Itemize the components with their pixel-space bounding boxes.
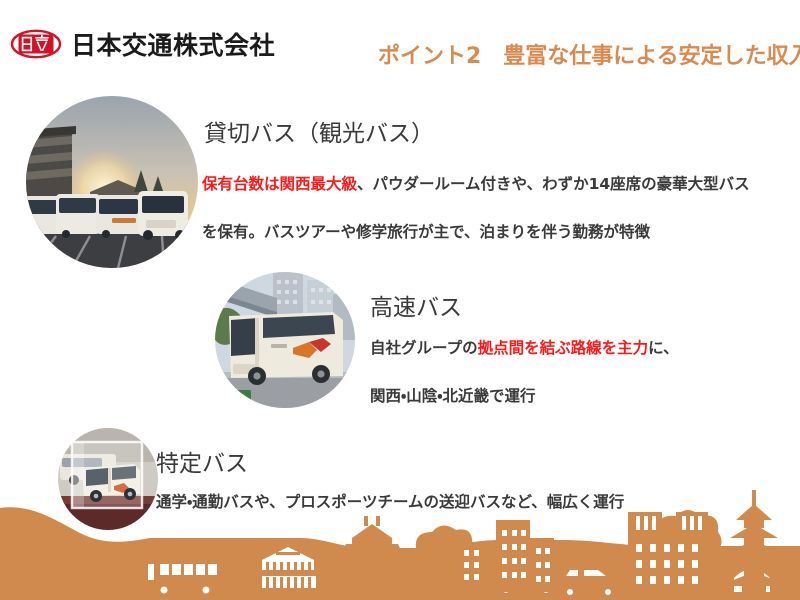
text-run: 保有台数は関西最大級 xyxy=(202,175,357,193)
text-run: 拠点間を結ぶ路線を主力 xyxy=(478,339,649,357)
section-line-kosoku-1: 自社グループの拠点間を結ぶ路線を主力に、 xyxy=(370,336,679,358)
brand-lockup: 日本交通株式会社 xyxy=(10,26,275,62)
text-run: 自社グループの xyxy=(370,339,478,357)
section-line-kashikiri-2: を保有。バスツアーや修学旅行が主で、泊まりを伴う勤務が特徴 xyxy=(202,220,650,242)
highway-express-bus-photo xyxy=(215,272,355,408)
section-heading-kosoku: 高速バス xyxy=(370,288,462,322)
section-line-tokutei-1: 通学・通勤バスや、プロスポーツチームの送迎バスなど、幅広く運行 xyxy=(156,490,624,512)
chartered-bus-fleet-sunset-photo xyxy=(26,96,198,268)
section-heading-kashikiri: 貸切バス（観光バス） xyxy=(204,114,434,148)
page-title: ポイント2 豊富な仕事による安定した収入！ xyxy=(378,38,800,70)
nihon-kotsu-oval-logo-icon xyxy=(10,29,62,59)
slide-root: 日本交通株式会社 ポイント2 豊富な仕事による安定した収入！ xyxy=(0,0,800,600)
text-run: 通学・通勤バスや、プロスポーツチームの送迎バスなど、幅広く運行 xyxy=(156,493,624,511)
text-run: を保有。バスツアーや修学旅行が主で、泊まりを伴う勤務が特徴 xyxy=(202,223,650,241)
company-name: 日本交通株式会社 xyxy=(71,26,275,62)
section-line-kashikiri-1: 保有台数は関西最大級、パウダールーム付きや、わずか14座席の豪華大型バス xyxy=(202,172,750,194)
model-bus-display-case-photo xyxy=(58,428,158,530)
text-run: 関西・山陰・北近畿で運行 xyxy=(370,387,536,405)
section-heading-tokutei: 特定バス xyxy=(156,444,248,478)
text-run: に、 xyxy=(648,339,679,357)
text-run: 、パウダールーム付きや、わずか14座席の豪華大型バス xyxy=(357,175,750,193)
section-line-kosoku-2: 関西・山陰・北近畿で運行 xyxy=(370,384,536,406)
